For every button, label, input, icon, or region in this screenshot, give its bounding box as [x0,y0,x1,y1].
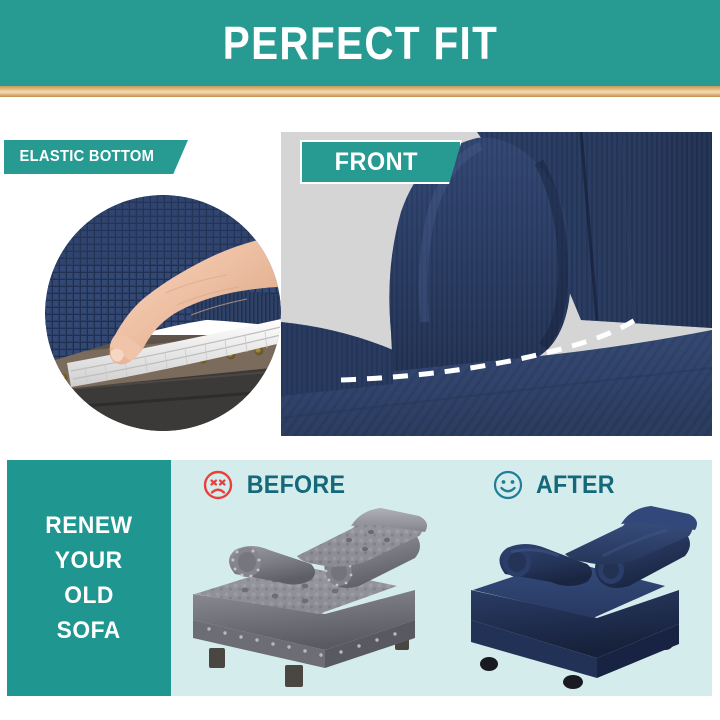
before-column: BEFORE [171,460,451,696]
old-gray-chaise-illustration [179,502,447,692]
after-header: AFTER [493,470,618,500]
infographic-page: PERFECT FIT [0,0,720,720]
elastic-bottom-label: ELASTIC BOTTOM [20,148,155,166]
renew-line-1: RENEW [45,512,132,540]
after-sofa-image [453,502,703,697]
sad-face-icon [203,470,233,500]
after-label: AFTER [536,471,615,500]
before-header: BEFORE [203,470,349,500]
page-title: PERFECT FIT [222,16,497,70]
middle-section: ELASTIC BOTTOM [0,110,720,440]
front-tag: FRONT [300,140,462,184]
before-after-section: RENEW YOUR OLD SOFA BEFORE [7,460,712,696]
hand-pulling-elastic-illustration [45,195,281,431]
renew-line-3: OLD [64,582,114,610]
navy-covered-chaise-illustration [453,502,703,692]
gold-divider-band [0,86,720,97]
elastic-bottom-panel: ELASTIC BOTTOM [0,110,278,440]
renew-line-4: SOFA [57,617,121,645]
header-banner: PERFECT FIT [0,0,720,86]
renew-callout: RENEW YOUR OLD SOFA [7,460,171,696]
front-label: FRONT [334,148,417,177]
after-column: AFTER [451,460,712,696]
elastic-bottom-tag: ELASTIC BOTTOM [4,140,188,174]
renew-line-2: YOUR [55,547,123,575]
happy-face-icon [493,470,523,500]
before-sofa-image [179,502,447,697]
before-label: BEFORE [247,471,346,500]
elastic-bottom-photo [45,195,281,431]
